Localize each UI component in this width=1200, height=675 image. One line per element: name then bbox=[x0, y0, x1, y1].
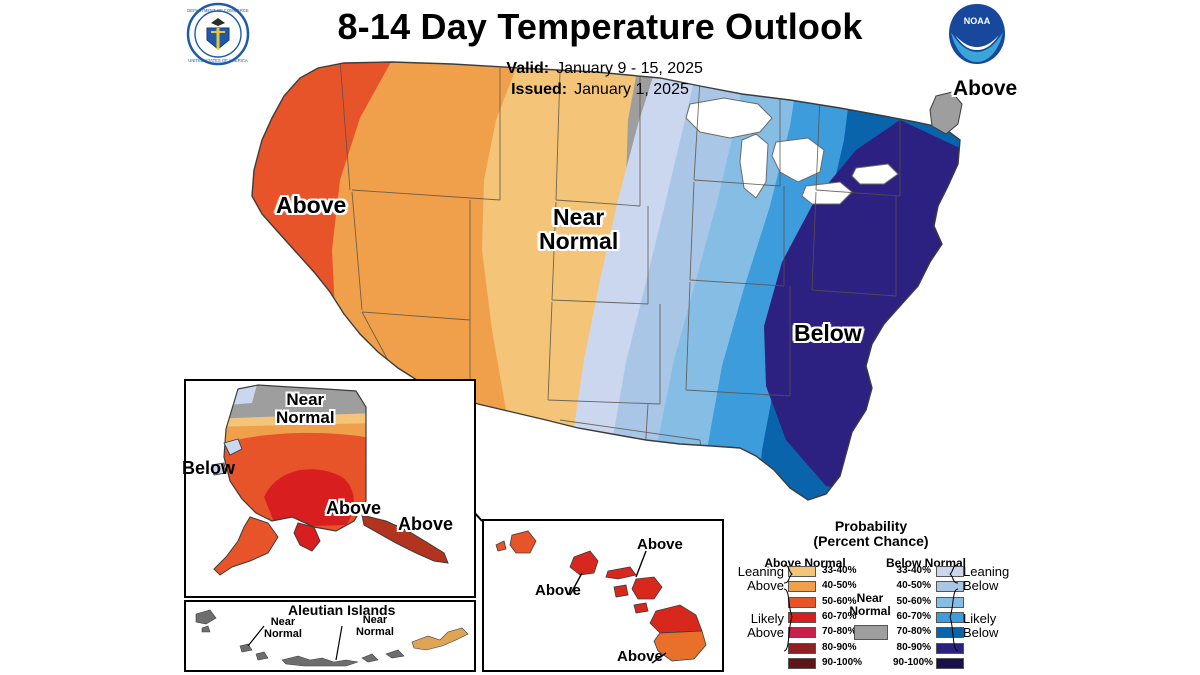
aleutian-label-near-normal-west: Near Normal bbox=[264, 617, 302, 640]
island-niihau bbox=[496, 541, 506, 551]
island-kauai bbox=[510, 531, 536, 553]
page-title: 8-14 Day Temperature Outlook bbox=[0, 6, 1200, 48]
legend-swatch-below-60-70% bbox=[936, 612, 964, 623]
map-label-above-maine: Above bbox=[953, 78, 1017, 100]
alaska-label-above-panhandle: Above bbox=[398, 515, 453, 534]
legend-likely-below-label: Likely Below bbox=[963, 612, 1025, 640]
legend-range-below-50-60%: 50-60% bbox=[893, 596, 931, 607]
map-label-below-southeast: Below bbox=[794, 321, 862, 345]
legend-near-normal-label: Near Normal bbox=[846, 592, 894, 618]
alaska-label-above-south: Above bbox=[326, 499, 381, 518]
legend-swatch-above-50-60% bbox=[788, 597, 816, 608]
valid-row: Valid:January 9 - 15, 2025 bbox=[0, 58, 1200, 79]
island-kahoolawe bbox=[634, 603, 648, 613]
valid-value: January 9 - 15, 2025 bbox=[549, 58, 703, 79]
aleutian-east-warm bbox=[412, 628, 468, 650]
legend-swatch-above-90-100% bbox=[788, 658, 816, 669]
legend-swatch-below-50-60% bbox=[936, 597, 964, 608]
legend-range-above-40-50%: 40-50% bbox=[822, 580, 856, 591]
legend-range-below-33-40%: 33-40% bbox=[893, 565, 931, 576]
legend-range-above-80-90%: 80-90% bbox=[822, 642, 856, 653]
issued-key: Issued: bbox=[511, 79, 567, 100]
legend-swatch-above-60-70% bbox=[788, 612, 816, 623]
island-hawaii-north bbox=[650, 605, 702, 633]
island-maui bbox=[632, 577, 662, 599]
issued-row: Issued:January 1, 2025 bbox=[0, 79, 1200, 100]
alaska-label-near-normal: Near Normal bbox=[276, 391, 335, 427]
island-molokai bbox=[606, 567, 636, 579]
legend-range-below-90-100%: 90-100% bbox=[893, 657, 931, 668]
legend-swatch-below-33-40% bbox=[936, 566, 964, 577]
outlook-map-page: DEPARTMENT OF COMMERCE UNITED STATES OF … bbox=[0, 0, 1200, 675]
hawaii-inset bbox=[482, 519, 724, 672]
legend-swatch-below-80-90% bbox=[936, 643, 964, 654]
hawaii-label-above-bigisland: Above bbox=[617, 649, 663, 665]
legend-near-normal-swatch bbox=[854, 625, 888, 640]
legend-swatch-above-80-90% bbox=[788, 643, 816, 654]
ak-band-below-33-40 bbox=[206, 381, 258, 407]
legend-range-below-80-90%: 80-90% bbox=[893, 642, 931, 653]
map-label-above-west: Above bbox=[276, 193, 346, 217]
legend-leaning-below-label: Leaning Below bbox=[963, 565, 1025, 593]
hawaii-label-above-oahu: Above bbox=[535, 583, 581, 599]
valid-key: Valid: bbox=[497, 58, 549, 79]
legend-range-below-40-50%: 40-50% bbox=[893, 580, 931, 591]
island-lanai bbox=[614, 585, 628, 597]
legend-range-below-60-70%: 60-70% bbox=[893, 611, 931, 622]
legend-swatch-below-90-100% bbox=[936, 658, 964, 669]
alaska-peninsula bbox=[214, 517, 278, 575]
legend-leaning-above-label: Leaning Above bbox=[724, 565, 784, 593]
legend-likely-above-label: Likely Above bbox=[724, 612, 784, 640]
legend-range-above-70-80%: 70-80% bbox=[822, 626, 856, 637]
legend-title: Probability (Percent Chance) bbox=[726, 519, 1016, 549]
legend-range-above-33-40%: 33-40% bbox=[822, 565, 856, 576]
hawaii-label-above-maui: Above bbox=[637, 537, 683, 553]
issued-value: January 1, 2025 bbox=[567, 79, 689, 100]
legend-swatch-below-40-50% bbox=[936, 581, 964, 592]
island-oahu bbox=[570, 551, 598, 575]
hawaii-map-svg bbox=[484, 521, 722, 670]
legend-title-line1: Probability bbox=[835, 518, 907, 534]
aleutian-label-near-normal-east: Near Normal bbox=[356, 615, 394, 638]
legend-range-above-90-100%: 90-100% bbox=[822, 657, 862, 668]
legend-swatch-above-40-50% bbox=[788, 581, 816, 592]
legend-range-below-70-80%: 70-80% bbox=[893, 626, 931, 637]
alaska-label-below: Below bbox=[182, 459, 235, 478]
map-label-near-normal: Near Normal bbox=[539, 205, 618, 254]
legend-swatch-below-70-80% bbox=[936, 627, 964, 638]
legend-swatch-above-70-80% bbox=[788, 627, 816, 638]
legend-title-line2: (Percent Chance) bbox=[813, 533, 928, 549]
legend-swatch-above-33-40% bbox=[788, 566, 816, 577]
valid-issued-block: Valid:January 9 - 15, 2025 Issued:Januar… bbox=[0, 58, 1200, 100]
